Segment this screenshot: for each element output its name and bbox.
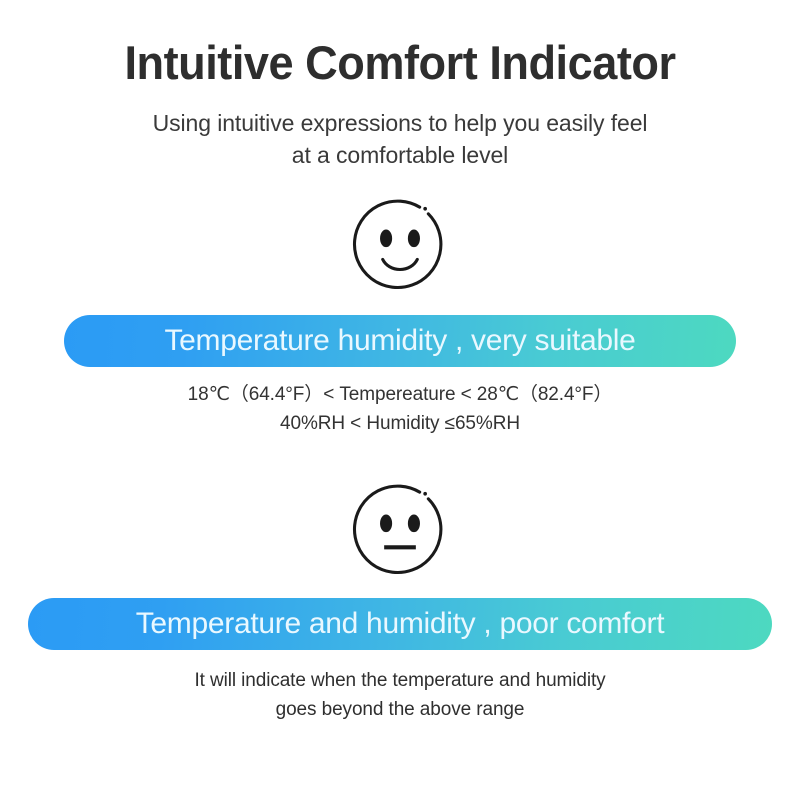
poor-comfort-caption-line-1: It will indicate when the temperature an… (194, 666, 605, 695)
poor-comfort-caption: It will indicate when the temperature an… (194, 666, 605, 725)
neutral-face-container (0, 483, 800, 579)
page-title: Intuitive Comfort Indicator (124, 38, 675, 89)
smiley-neutral-face-icon (352, 483, 448, 579)
poor-comfort-caption-line-2: goes beyond the above range (194, 695, 605, 724)
subtitle-line-2: at a comfortable level (153, 139, 648, 172)
page-subtitle: Using intuitive expressions to help you … (153, 107, 648, 172)
comfort-indicator-page: Intuitive Comfort Indicator Using intuit… (0, 0, 800, 800)
smiley-happy-face-icon (352, 198, 448, 294)
status-banner-comfortable-label: Temperature humidity , very suitable (164, 326, 635, 356)
status-banner-poor-comfort-label: Temperature and humidity , poor comfort (136, 609, 665, 639)
humidity-range-text: 40%RH < Humidity ≤65%RH (188, 410, 613, 439)
subtitle-line-1: Using intuitive expressions to help you … (153, 107, 648, 140)
temperature-range-text: 18℃（64.4°F）< Tempereature < 28℃（82.4°F） (188, 381, 613, 410)
status-banner-poor-comfort: Temperature and humidity , poor comfort (28, 598, 772, 650)
status-banner-comfortable: Temperature humidity , very suitable (64, 315, 736, 367)
comfortable-range-detail: 18℃（64.4°F）< Tempereature < 28℃（82.4°F） … (188, 381, 613, 439)
happy-face-container (0, 198, 800, 294)
